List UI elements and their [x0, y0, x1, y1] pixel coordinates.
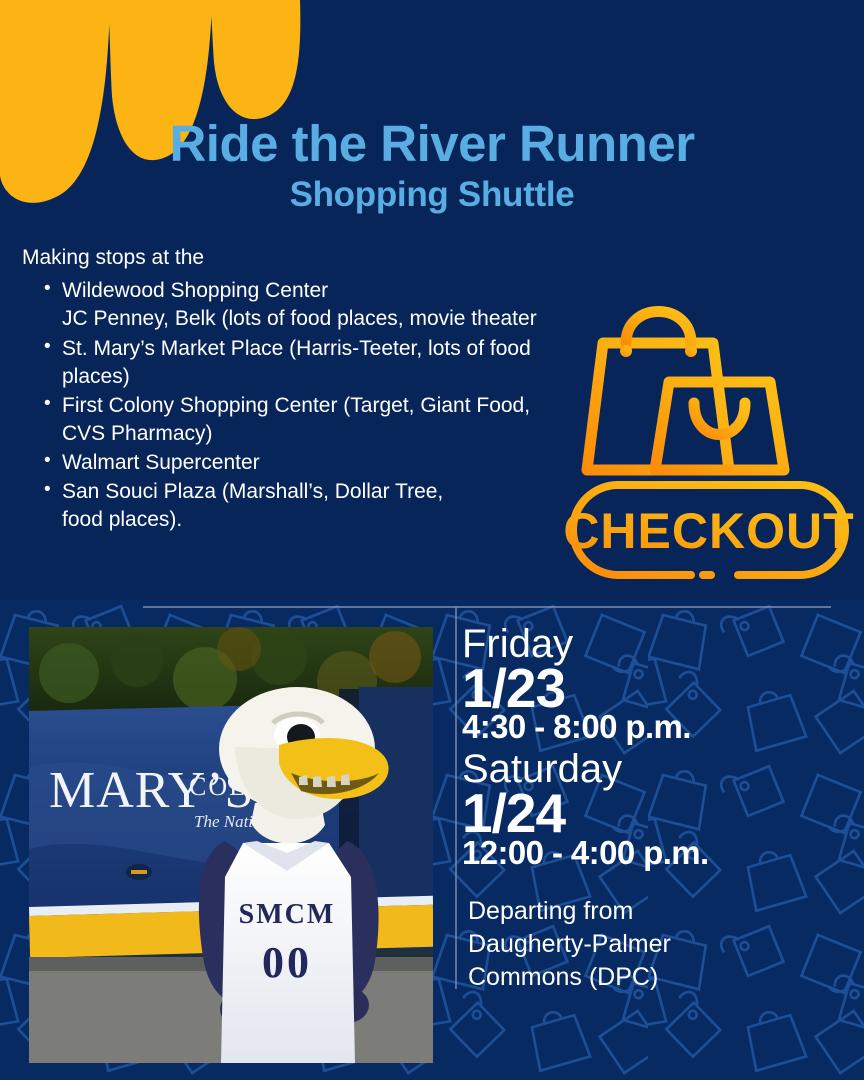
- list-item: First Colony Shopping Center (Target, Gi…: [44, 392, 632, 448]
- schedule-entry: Saturday 1/24 12:00 - 4:00 p.m.: [462, 749, 857, 868]
- poster-title-block: Ride the River Runner Shopping Shuttle: [0, 118, 864, 212]
- schedule-date: 1/23: [462, 663, 857, 714]
- schedule-entry: Friday 1/23 4:30 - 8:00 p.m.: [462, 624, 857, 743]
- list-item: Walmart Supercenter: [44, 449, 632, 477]
- stop-line-1: Walmart Supercenter: [62, 451, 260, 474]
- page-title: Ride the River Runner: [0, 118, 864, 169]
- stop-line-2: CVS Pharmacy): [62, 420, 632, 448]
- list-item: St. Mary’s Market Place (Harris-Teeter, …: [44, 335, 632, 391]
- stop-line-1: Wildewood Shopping Center: [62, 279, 328, 302]
- vertical-divider: [455, 607, 457, 989]
- stop-line-1: St. Mary’s Market Place (Harris-Teeter, …: [62, 337, 531, 360]
- schedule-time: 12:00 - 4:00 p.m.: [462, 836, 857, 869]
- page-subtitle: Shopping Shuttle: [0, 177, 864, 212]
- list-item: San Souci Plaza (Marshall’s, Dollar Tree…: [44, 478, 632, 534]
- stops-section: Making stops at the Wildewood Shopping C…: [22, 245, 632, 535]
- checkout-bags-icon: CHECKOUT: [563, 285, 855, 590]
- mascot-figure: SMCM 00: [199, 687, 389, 1063]
- stop-line-2: food places).: [62, 506, 632, 534]
- horizontal-divider: [143, 606, 831, 608]
- stop-line-2: JC Penney, Belk (lots of food places, mo…: [62, 305, 632, 333]
- stops-intro-text: Making stops at the: [22, 245, 632, 271]
- poster-canvas: Ride the River Runner Shopping Shuttle M…: [0, 0, 864, 1080]
- schedule-section: Friday 1/23 4:30 - 8:00 p.m. Saturday 1/…: [462, 624, 857, 994]
- jersey-number-text: 00: [262, 938, 312, 987]
- departure-line-3: Commons (DPC): [468, 961, 857, 994]
- departure-info: Departing from Daugherty-Palmer Commons …: [462, 895, 857, 994]
- stop-line-1: San Souci Plaza (Marshall’s, Dollar Tree…: [62, 480, 443, 503]
- jersey-team-text: SMCM: [239, 899, 336, 930]
- schedule-date: 1/24: [462, 788, 857, 839]
- checkout-label: CHECKOUT: [563, 503, 854, 559]
- schedule-time: 4:30 - 8:00 p.m.: [462, 710, 857, 743]
- departure-line-1: Departing from: [468, 895, 857, 928]
- stop-line-2: places): [62, 363, 632, 391]
- stops-list: Wildewood Shopping Center JC Penney, Bel…: [22, 277, 632, 534]
- stop-line-1: First Colony Shopping Center (Target, Gi…: [62, 394, 530, 417]
- departure-line-2: Daugherty-Palmer: [468, 928, 857, 961]
- mascot-bus-photo: MARY’S COLLEGE The Nation: [29, 627, 433, 1063]
- list-item: Wildewood Shopping Center JC Penney, Bel…: [44, 277, 632, 333]
